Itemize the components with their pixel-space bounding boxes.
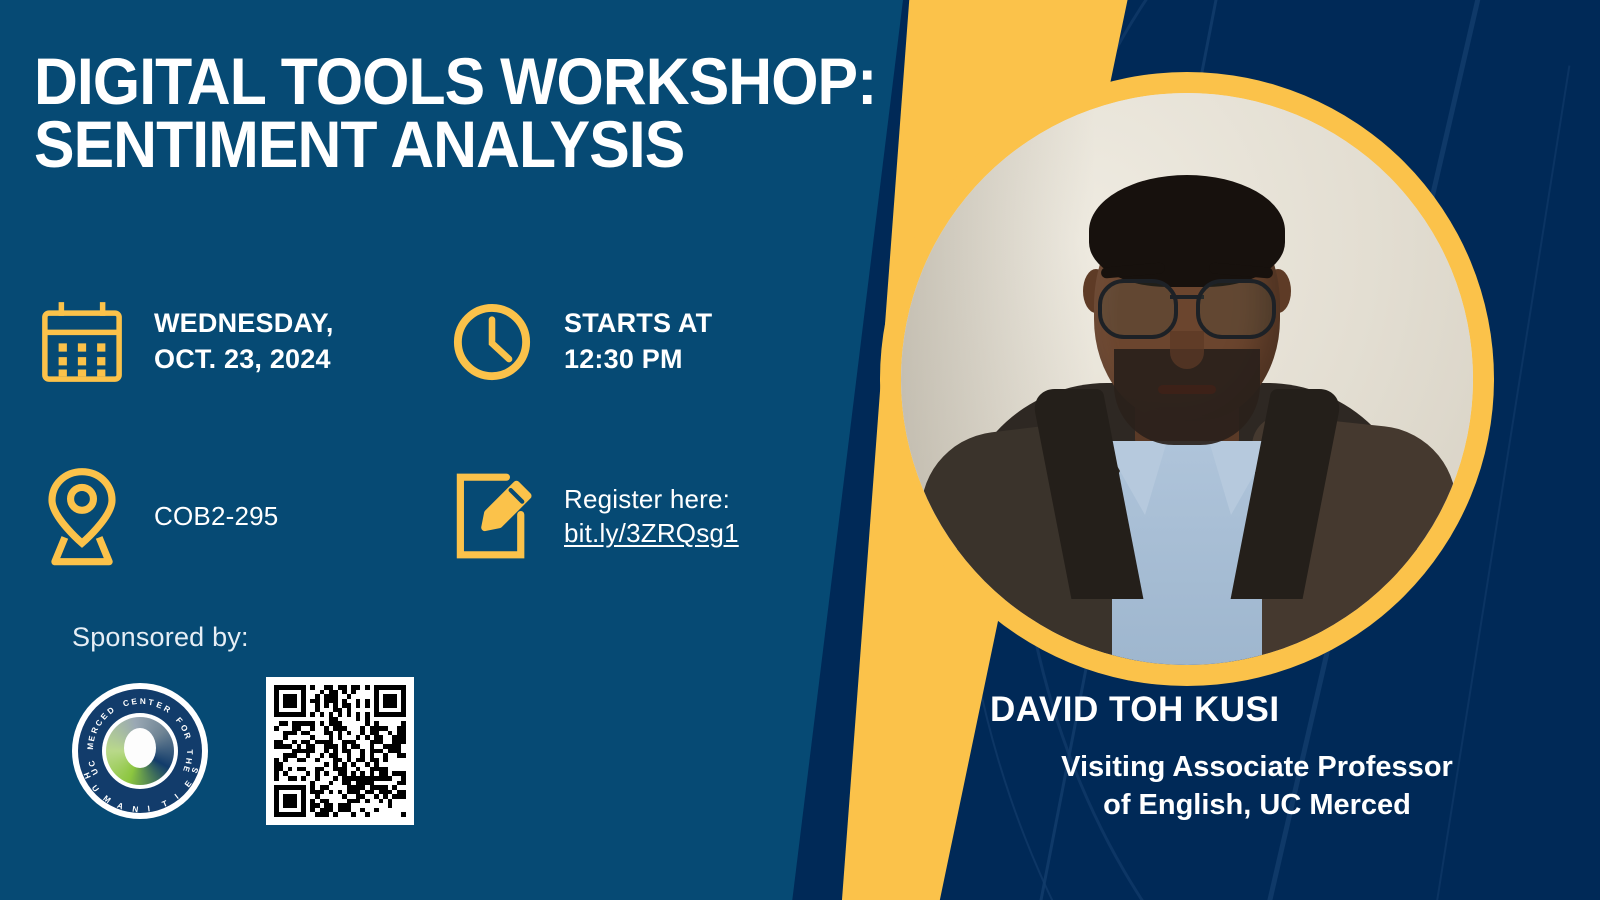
nose bbox=[1170, 331, 1204, 369]
location-pin-icon bbox=[36, 470, 128, 562]
detail-date: Wednesday, Oct. 23, 2024 bbox=[36, 296, 376, 388]
speaker-role: Visiting Associate Professor of English,… bbox=[990, 748, 1550, 825]
event-flyer: Digital Tools Workshop: Sentiment Analys… bbox=[0, 0, 1600, 900]
detail-date-text: Wednesday, Oct. 23, 2024 bbox=[154, 306, 334, 377]
qr-code[interactable] bbox=[266, 677, 414, 825]
mouth bbox=[1158, 385, 1216, 394]
detail-location: COB2-295 bbox=[36, 470, 376, 562]
sponsor-section: Sponsored by: UC MERCED CENTER FOR THEHU… bbox=[72, 622, 414, 825]
detail-time-text: Starts at 12:30 PM bbox=[564, 306, 712, 377]
clock-icon bbox=[446, 296, 538, 388]
detail-time: Starts at 12:30 PM bbox=[446, 296, 786, 388]
eyeglasses bbox=[1098, 279, 1276, 333]
calendar-icon bbox=[36, 296, 128, 388]
sponsor-label: Sponsored by: bbox=[72, 622, 414, 653]
page-title: Digital Tools Workshop: Sentiment Analys… bbox=[34, 50, 880, 177]
document-pencil-icon bbox=[446, 470, 538, 562]
register-link[interactable]: bit.ly/3ZRQsg1 bbox=[564, 516, 739, 550]
event-details: Wednesday, Oct. 23, 2024 Starts at 12:30… bbox=[36, 296, 826, 644]
portrait-frame bbox=[880, 72, 1494, 686]
seal-text: UC MERCED CENTER FOR THEHUMANITIES bbox=[72, 683, 208, 819]
uc-merced-humanities-logo: UC MERCED CENTER FOR THEHUMANITIES bbox=[72, 683, 208, 819]
speaker-info: DAVID TOH KUSI Visiting Associate Profes… bbox=[990, 690, 1550, 825]
detail-register-text: Register here: bit.ly/3ZRQsg1 bbox=[564, 482, 739, 551]
detail-location-text: COB2-295 bbox=[154, 499, 278, 533]
speaker-name: DAVID TOH KUSI bbox=[990, 690, 1550, 730]
detail-register: Register here: bit.ly/3ZRQsg1 bbox=[446, 470, 786, 562]
title-line-2: Sentiment Analysis bbox=[34, 113, 880, 176]
speaker-portrait bbox=[901, 93, 1473, 665]
